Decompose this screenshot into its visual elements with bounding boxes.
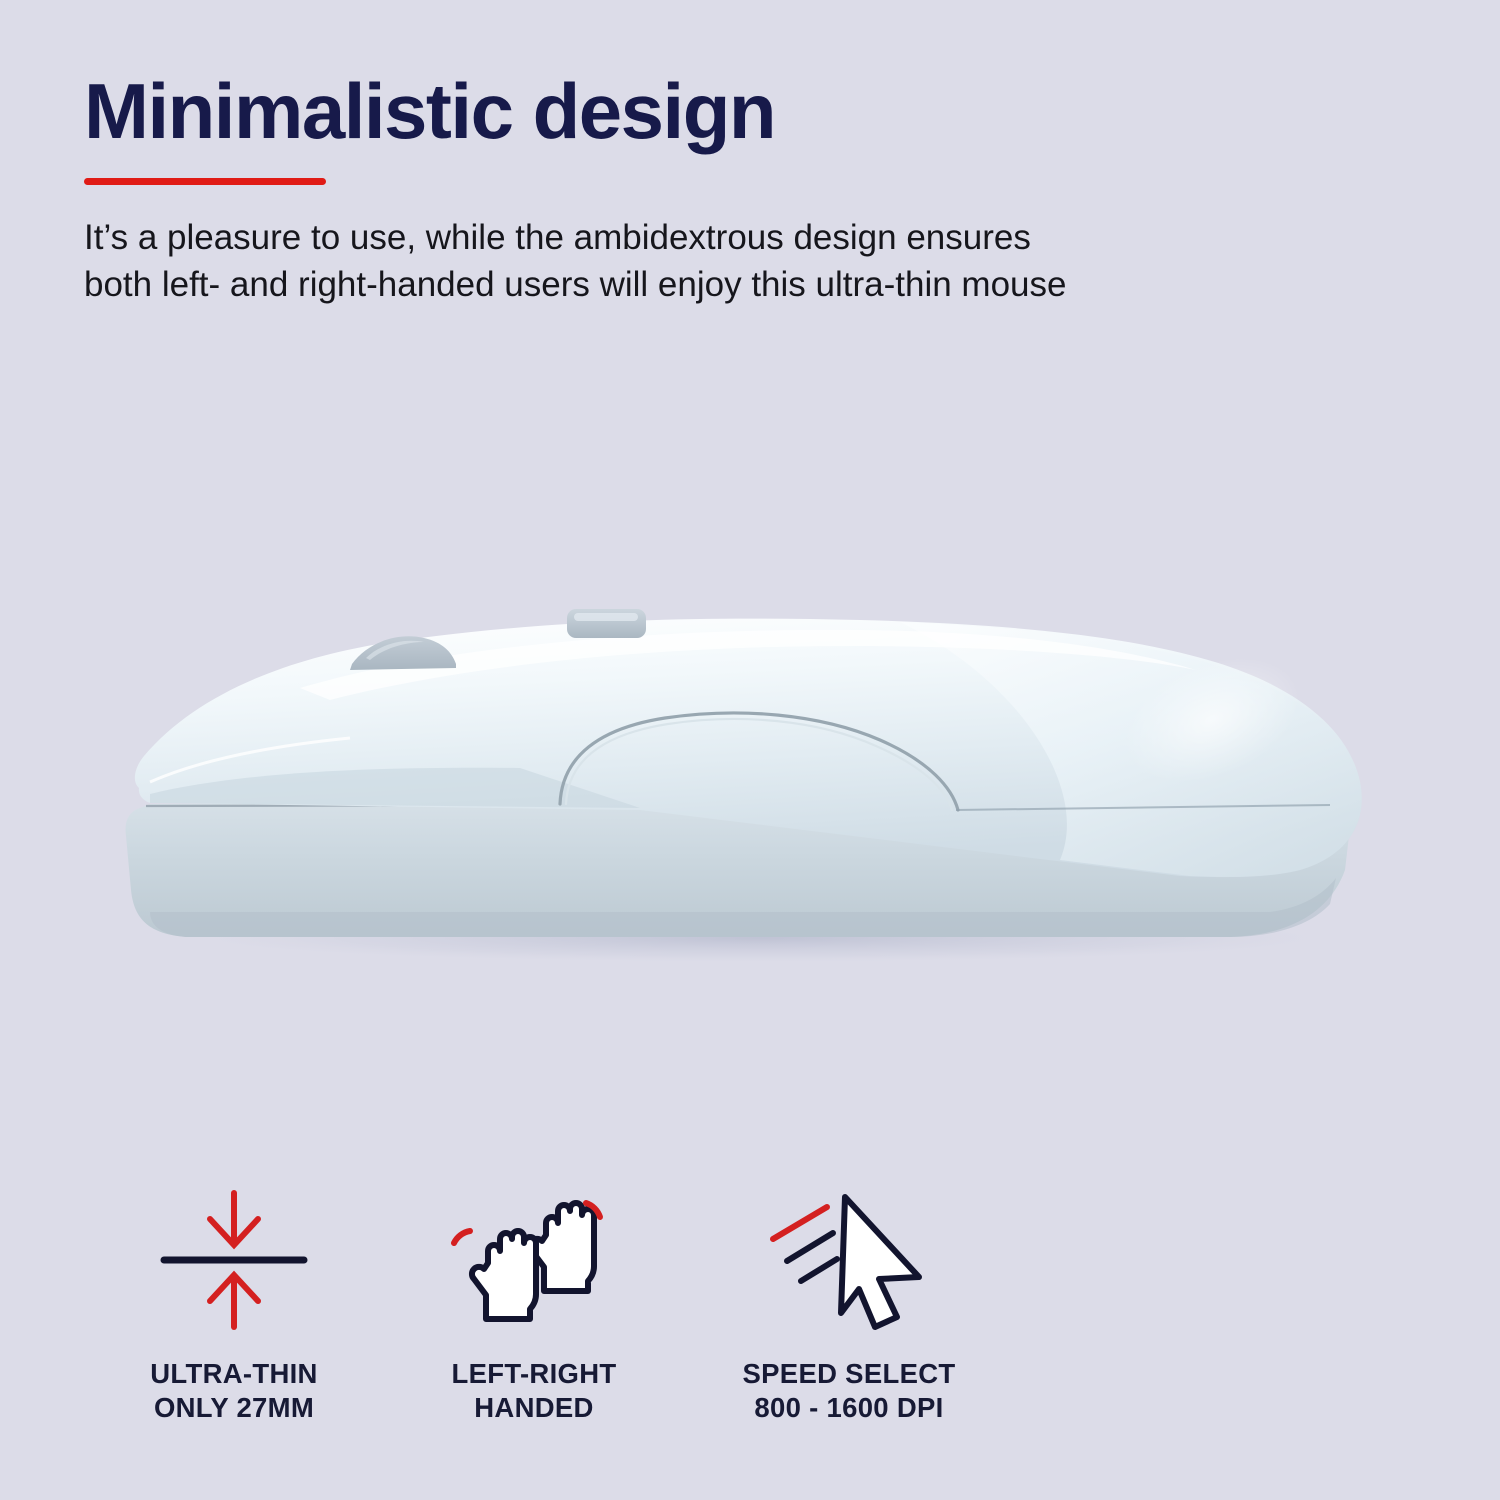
header-block: Minimalistic design It’s a pleasure to u… — [84, 72, 1464, 308]
arrow-down — [210, 1193, 258, 1245]
product-feature-page: Minimalistic design It’s a pleasure to u… — [0, 0, 1500, 1500]
feature-label-ultra-thin: ULTRA-THIN ONLY 27MM — [84, 1357, 384, 1424]
feature-label-line-1: LEFT-RIGHT — [452, 1358, 617, 1389]
accent-underline — [84, 178, 326, 185]
page-title: Minimalistic design — [84, 72, 1464, 150]
feature-item-ultra-thin: ULTRA-THIN ONLY 27MM — [84, 1185, 384, 1424]
feature-item-ambidextrous: LEFT-RIGHT HANDED — [384, 1185, 684, 1424]
left-hand-glyph — [454, 1231, 536, 1319]
feature-list: ULTRA-THIN ONLY 27MM — [84, 1185, 1424, 1424]
mouse-side-profile-illustration — [0, 560, 1500, 1030]
feature-label-line-1: ULTRA-THIN — [150, 1358, 317, 1389]
two-hands-icon — [384, 1185, 684, 1335]
arrow-up — [210, 1275, 258, 1327]
feature-label-line-1: SPEED SELECT — [743, 1358, 956, 1389]
ultra-thin-arrows-icon — [84, 1185, 384, 1335]
motion-line-2 — [801, 1259, 837, 1281]
feature-label-ambidextrous: LEFT-RIGHT HANDED — [384, 1357, 684, 1424]
motion-line-1 — [787, 1233, 833, 1261]
left-hand-arc — [454, 1231, 470, 1243]
motion-line-red — [773, 1207, 827, 1239]
right-hand-glyph — [530, 1203, 600, 1291]
feature-item-speed-select: SPEED SELECT 800 - 1600 DPI — [684, 1185, 1014, 1424]
cursor-speed-icon — [684, 1185, 1014, 1335]
subheading-line-1: It’s a pleasure to use, while the ambide… — [84, 215, 1444, 262]
feature-label-line-2: HANDED — [384, 1391, 684, 1425]
product-image — [0, 560, 1500, 1030]
subheading-line-2: both left- and right-handed users will e… — [84, 262, 1444, 309]
dpi-button-highlight — [574, 613, 638, 621]
feature-label-speed-select: SPEED SELECT 800 - 1600 DPI — [684, 1357, 1014, 1424]
subheading: It’s a pleasure to use, while the ambide… — [84, 215, 1444, 308]
cursor-arrow-glyph — [841, 1197, 919, 1327]
feature-label-line-2: 800 - 1600 DPI — [684, 1391, 1014, 1425]
feature-label-line-2: ONLY 27MM — [84, 1391, 384, 1425]
